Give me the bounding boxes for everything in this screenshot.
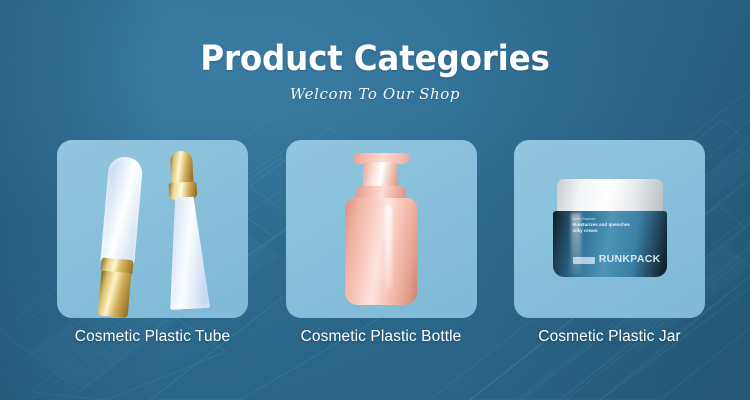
category-label-jar[interactable]: Cosmetic Plastic Jar [514, 328, 705, 346]
jar-label-line3: silky cream [573, 228, 647, 234]
bottle-pump-neck [363, 162, 397, 188]
tube-inverted [92, 155, 147, 308]
product-image-bottle [286, 140, 477, 318]
jar-label-badge [573, 257, 595, 264]
bottle-highlight [385, 205, 392, 289]
category-card-tube[interactable] [57, 140, 248, 318]
product-categories-banner: Product Categories Welcom To Our Shop [0, 0, 750, 400]
tube-body [164, 196, 210, 310]
page-title: Product Categories [26, 40, 724, 78]
cosmetic-cream-jar-art: Hydro Essence Moisturizes and quenches s… [553, 179, 667, 279]
category-card-row: Hydro Essence Moisturizes and quenches s… [57, 140, 705, 320]
bottle-body [345, 198, 417, 305]
jar-lid [557, 179, 663, 213]
category-label-tube[interactable]: Cosmetic Plastic Tube [57, 328, 248, 346]
tube-upright [158, 150, 214, 310]
tube-gold-cap [97, 271, 131, 318]
tube-body [100, 156, 143, 267]
banner-heading: Product Categories Welcom To Our Shop [0, 40, 750, 103]
tube-gold-cap [169, 151, 193, 186]
jar-label-line1: Hydro Essence [573, 217, 647, 222]
category-card-bottle[interactable] [286, 140, 477, 318]
jar-brand-name: RUNKPACK [599, 253, 661, 265]
category-card-jar[interactable]: Hydro Essence Moisturizes and quenches s… [514, 140, 705, 318]
product-image-tube [57, 140, 248, 318]
product-image-jar: Hydro Essence Moisturizes and quenches s… [514, 140, 705, 318]
cosmetic-pump-bottle-art [339, 153, 423, 305]
category-label-row: Cosmetic Plastic Tube Cosmetic Plastic B… [57, 328, 705, 346]
page-subtitle: Welcom To Our Shop [0, 85, 750, 103]
cosmetic-tube-pair-art [93, 149, 213, 309]
category-label-bottle[interactable]: Cosmetic Plastic Bottle [286, 328, 477, 346]
jar-label-text: Hydro Essence Moisturizes and quenches s… [573, 217, 647, 234]
